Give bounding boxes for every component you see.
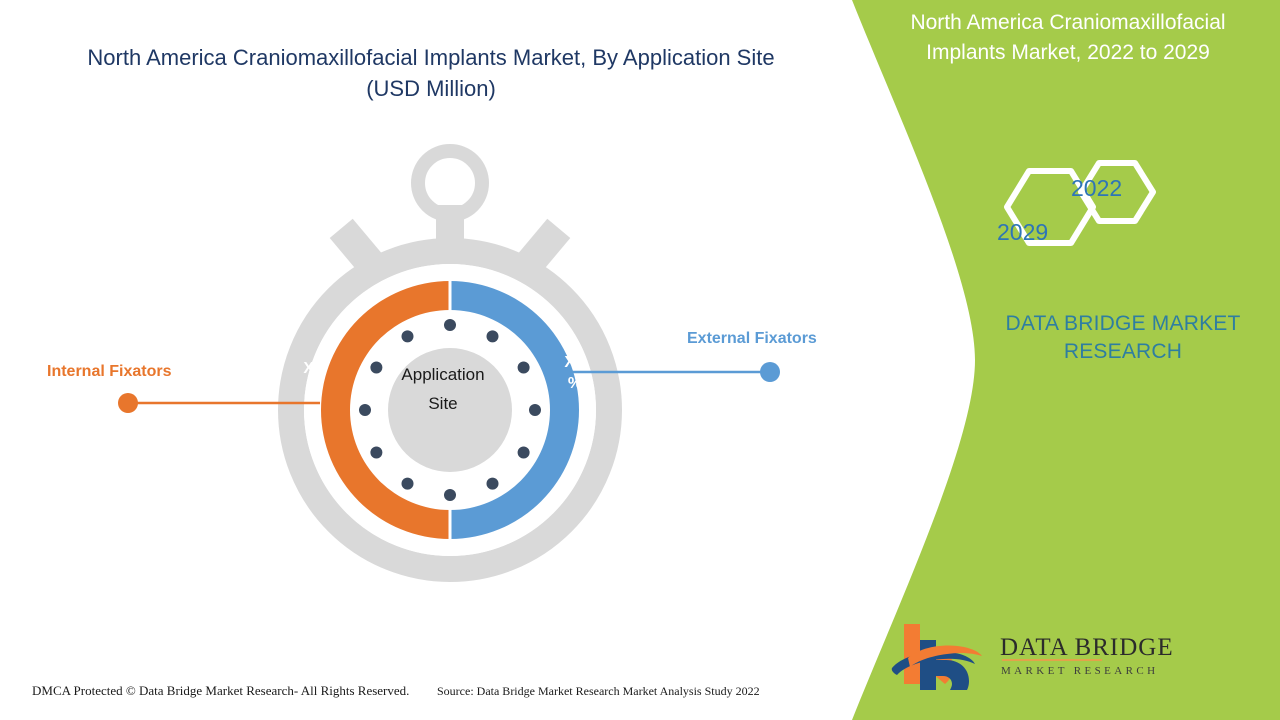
panel-title-line2: Implants Market, 2022 to 2029 (926, 41, 1210, 64)
logo-wordmark: DATA BRIDGE (1000, 634, 1174, 662)
center-label-line1: Application (401, 365, 484, 384)
brand-line-2: RESEARCH (1064, 340, 1182, 363)
leader-dot-external (760, 362, 780, 382)
chart-title-line1: North America Craniomaxillofacial Implan… (87, 45, 774, 70)
footer-copyright: DMCA Protected © Data Bridge Market Rese… (32, 683, 409, 699)
hexagon-year-2022: 2022 (1071, 175, 1122, 202)
logo-tagline: MARKET RESEARCH (1001, 665, 1158, 677)
panel-title-line1: North America Craniomaxillofacial (910, 11, 1225, 34)
hexagon-year-2029: 2029 (997, 219, 1048, 246)
infographic-canvas: North America Craniomaxillofacial Implan… (0, 0, 1280, 720)
footer-source: Source: Data Bridge Market Research Mark… (437, 684, 760, 699)
slice-value-internal: XX % (291, 358, 337, 400)
slice-value-internal-number: XX (303, 360, 324, 377)
chart-center-label: Application Site (358, 360, 528, 418)
brand-line-1: DATA BRIDGE MARKET (1005, 312, 1240, 335)
legend-label-internal-fixators[interactable]: Internal Fixators (47, 363, 171, 381)
legend-label-external-fixators[interactable]: External Fixators (687, 330, 817, 348)
slice-value-external-symbol: % (568, 375, 582, 392)
panel-title: North America Craniomaxillofacial Implan… (868, 8, 1268, 68)
slice-value-external-number: XX (564, 354, 585, 371)
page-title: North America Craniomaxillofacial Implan… (36, 42, 826, 104)
hexagon-outlines-icon (985, 145, 1175, 275)
center-label-line2: Site (428, 394, 457, 413)
brand-name: DATA BRIDGE MARKET RESEARCH (968, 310, 1278, 366)
hexagon-years-group: 2022 2029 (985, 145, 1175, 275)
chart-title-line2: (USD Million) (366, 76, 496, 101)
leader-dot-internal (118, 393, 138, 413)
slice-value-internal-symbol: % (307, 381, 321, 398)
slice-value-external: XX % (552, 352, 598, 394)
